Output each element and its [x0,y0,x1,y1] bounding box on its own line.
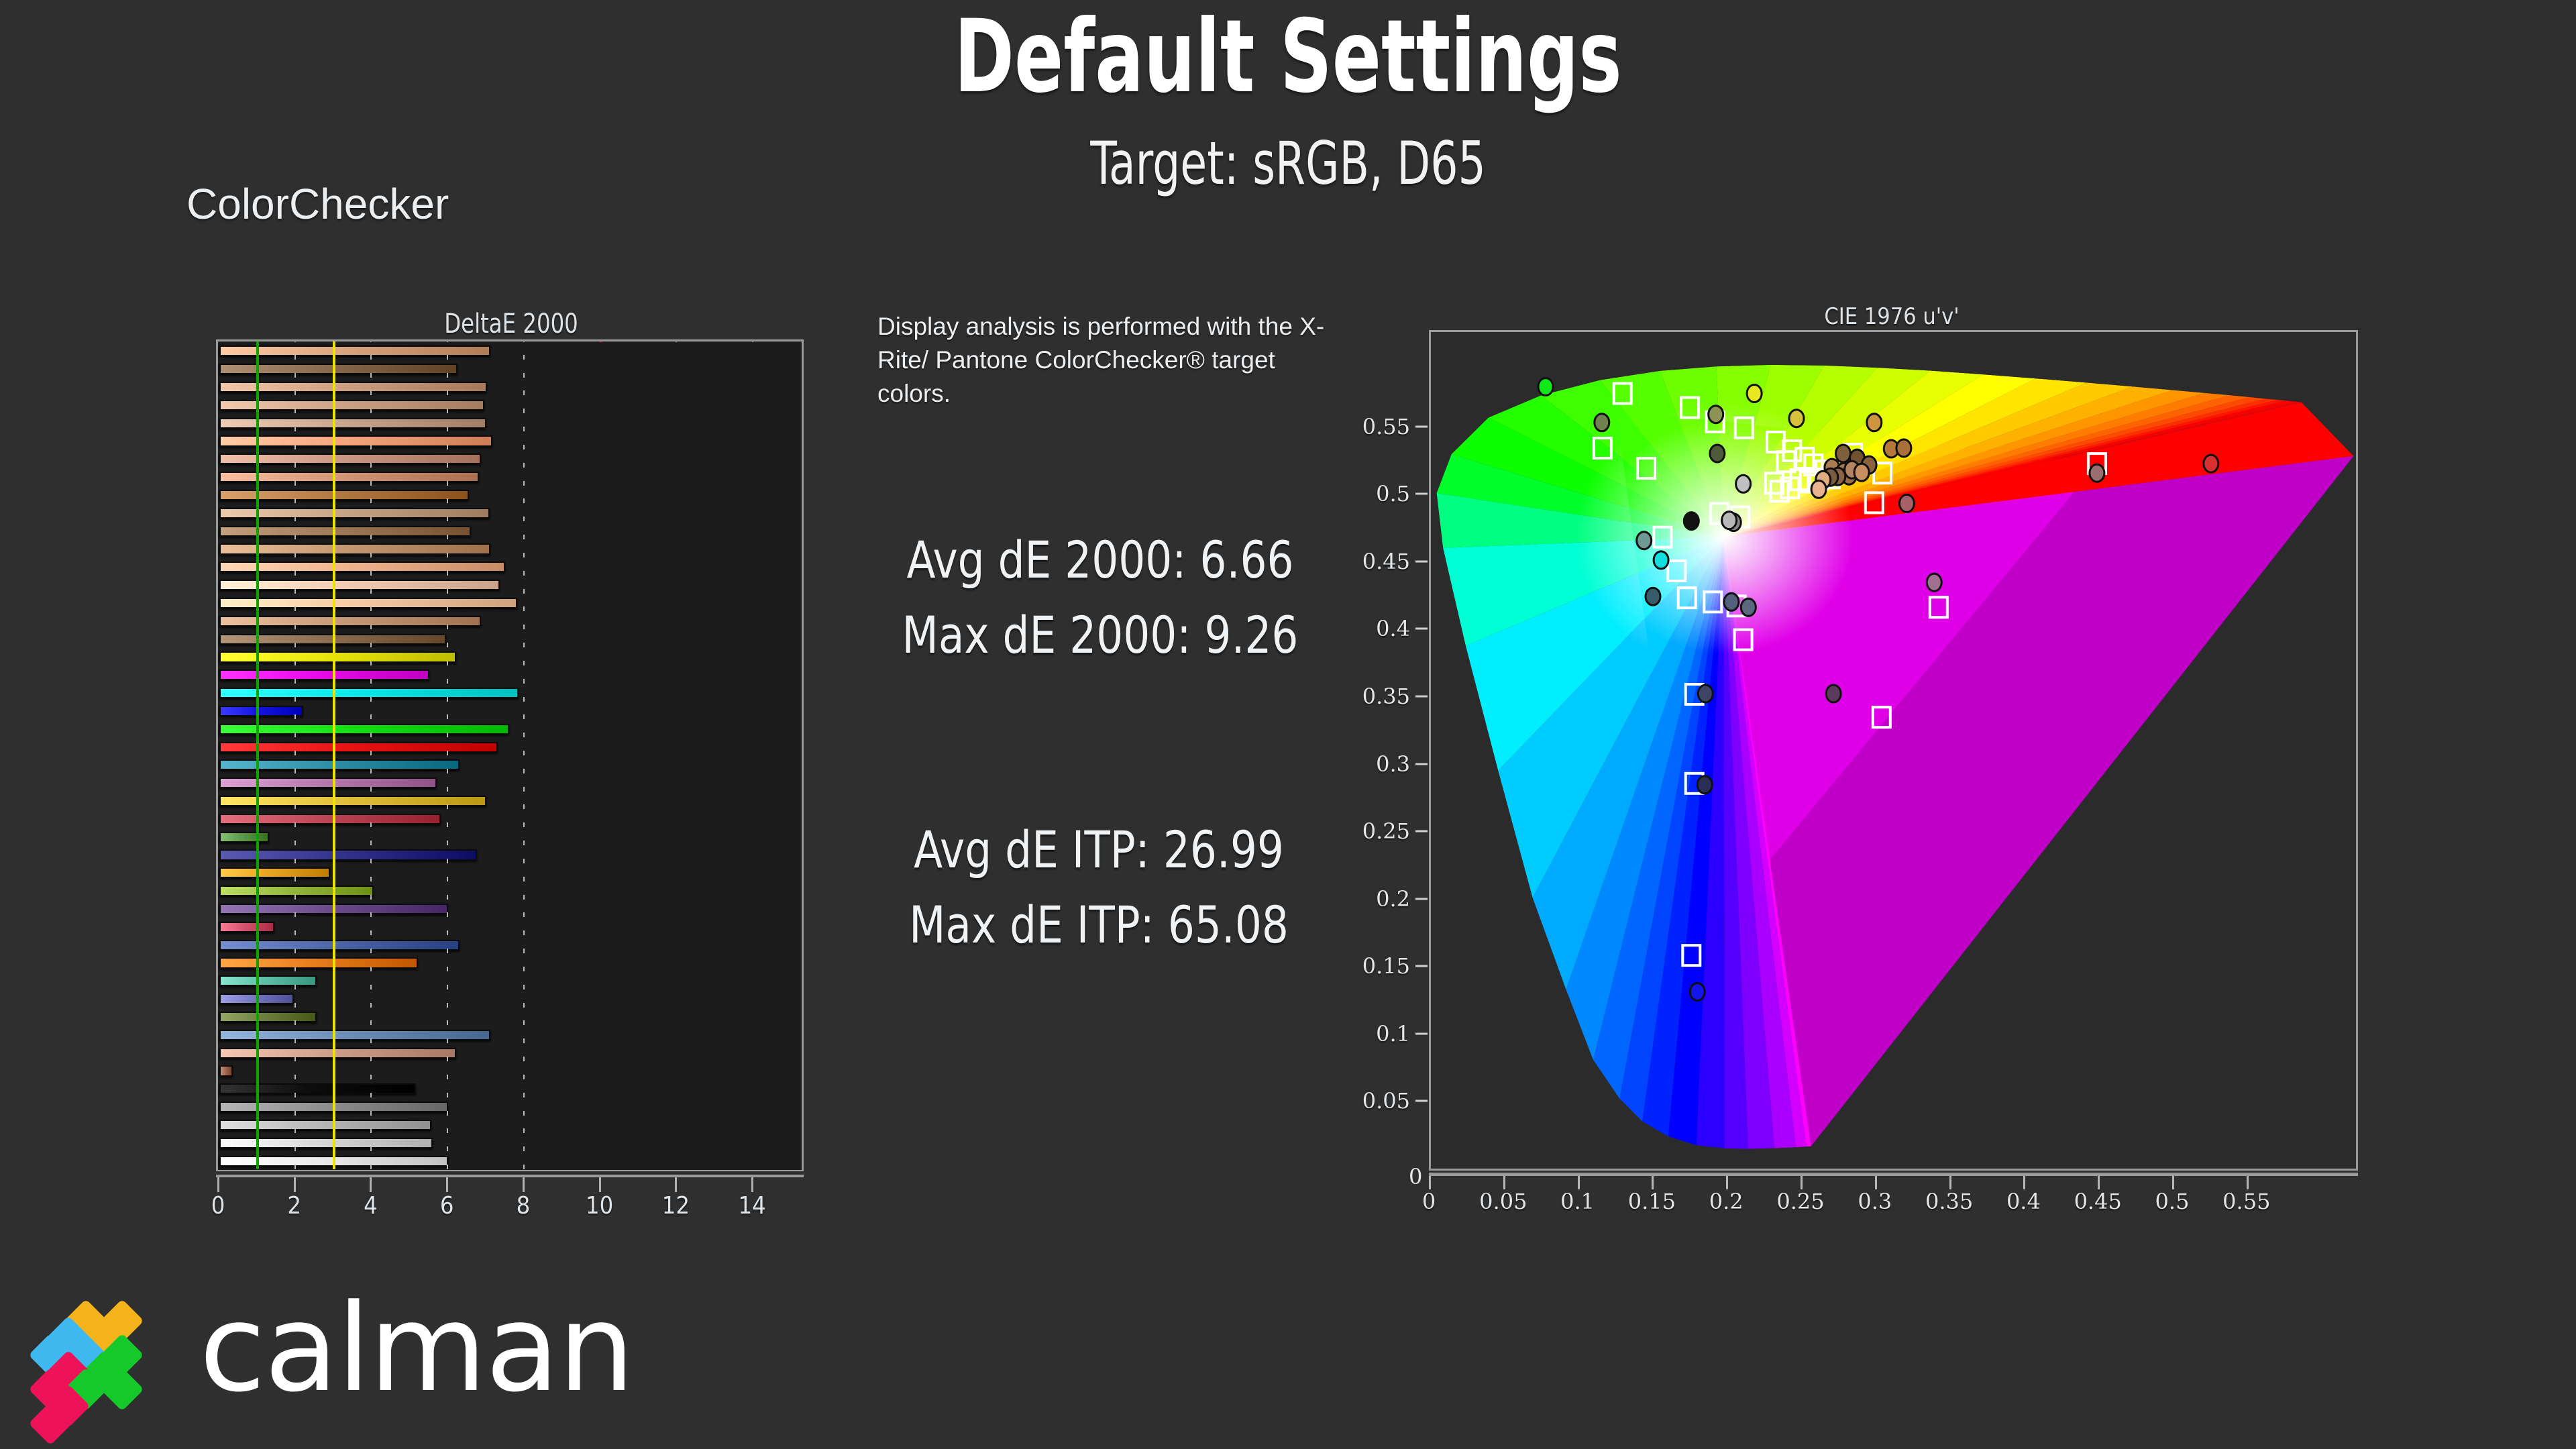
deltae-row [218,918,802,936]
deltae-axis-label: 4 [364,1192,378,1220]
deltae-minor-tick [523,643,525,647]
deltae-minor-tick [370,841,372,845]
cie-x-axis-tick [1652,1176,1654,1189]
cie-measured-marker [1684,513,1699,530]
cie-y-axis-tick [1415,425,1428,427]
deltae-plot-area [216,339,804,1171]
stat-max-deitp: Max dE ITP: 65.08 [852,895,1346,955]
deltae-minor-tick [294,912,296,917]
deltae-minor-tick [370,571,372,576]
deltae-minor-tick [294,751,296,755]
deltae-axis-label: 10 [586,1192,613,1220]
deltae-minor-tick [447,606,448,611]
deltae-minor-tick [294,877,296,881]
deltae-minor-tick [294,967,296,971]
deltae-minor-tick [523,481,525,486]
deltae-minor-tick [370,355,372,360]
deltae-minor-tick [523,463,525,468]
deltae-minor-tick [294,625,296,629]
deltae-minor-tick [523,1075,525,1079]
deltae-axis-tick [294,1177,296,1192]
cie-x-axis-label: 0 [1422,1189,1436,1214]
deltae-minor-tick [523,697,525,702]
deltae-minor-tick [294,679,296,684]
cie-y-axis-label: 0.15 [1362,953,1410,979]
deltae-bar [219,1083,416,1094]
deltae-minor-tick [294,553,296,557]
cie-measured-marker [1854,464,1869,481]
deltae-minor-tick [447,841,448,845]
deltae-minor-tick [447,912,448,917]
deltae-bar [219,1120,431,1130]
cie-measured-marker [1654,551,1668,569]
deltae-minor-tick [447,463,448,468]
deltae-minor-tick [447,1057,448,1061]
deltae-minor-tick [447,733,448,737]
deltae-minor-tick [294,589,296,594]
deltae-axis-label: 2 [287,1192,301,1220]
deltae-minor-tick [294,930,296,935]
deltae-minor-tick [294,661,296,665]
cie-measured-marker [1698,685,1713,702]
deltae-minor-tick [370,822,372,827]
cie-y-axis-tick [1415,898,1428,900]
deltae-minor-tick [294,535,296,539]
deltae-bar [219,561,505,572]
deltae-minor-tick [523,606,525,611]
deltae-minor-tick [294,1075,296,1079]
deltae-minor-tick [294,733,296,737]
deltae-minor-tick [523,373,525,378]
deltae-minor-tick [447,1038,448,1043]
deltae-bar [219,957,418,968]
cie-measured-marker [2090,464,2104,482]
deltae-minor-tick [523,535,525,539]
cie-x-axis-label: 0.55 [2222,1189,2270,1214]
deltae-minor-tick [523,625,525,629]
deltae-minor-tick [370,643,372,647]
cie-measured-marker [1709,406,1723,423]
deltae-minor-tick [447,481,448,486]
deltae-minor-tick [447,517,448,521]
cie-measured-marker [2204,455,2218,472]
cie-y-axis: 0.050.10.150.20.250.30.350.40.450.50.55 [1355,330,1428,1171]
cie-measured-marker [1697,776,1712,794]
deltae-minor-tick [447,967,448,971]
deltae-bar-chart [216,339,806,1175]
deltae-minor-tick [523,1003,525,1008]
cie-x-axis-tick [1578,1176,1580,1189]
deltae-minor-tick [447,877,448,881]
deltae-minor-tick [294,985,296,989]
deltae-bar [219,832,269,843]
deltae-minor-tick [523,787,525,792]
cie-y-axis-tick [1415,1100,1428,1102]
deltae-minor-tick [370,751,372,755]
cie-y-axis-tick [1415,696,1428,698]
cie-x-axis-label: 0.15 [1628,1189,1676,1214]
deltae-minor-tick [294,787,296,792]
cie-y-axis-tick [1415,965,1428,967]
cie-measured-marker [1710,445,1725,462]
deltae-chart-title: DeltaE 2000 [246,309,777,339]
deltae-minor-tick [370,373,372,378]
deltae-minor-tick [523,1165,525,1169]
stat-max-de2000: Max dE 2000: 9.26 [853,605,1347,665]
cie-measured-marker [1896,439,1911,457]
deltae-minor-tick [370,967,372,971]
deltae-minor-tick [294,606,296,611]
cie-axis-line [1429,1173,2358,1176]
deltae-minor-tick [294,373,296,378]
cie-y-axis-label: 0.4 [1376,616,1410,641]
deltae-bar [219,364,458,374]
cie-x-axis-tick [2098,1176,2100,1189]
deltae-minor-tick [294,949,296,953]
deltae-bar [219,759,460,770]
deltae-minor-tick [294,895,296,900]
deltae-minor-tick [447,697,448,702]
deltae-minor-tick [447,1128,448,1133]
deltae-minor-tick [447,1165,448,1169]
deltae-minor-tick [294,804,296,809]
deltae-bar [219,345,490,356]
cie-x-axis-tick [1429,1176,1431,1189]
cie-x-axis-label: 0.45 [2074,1189,2122,1214]
cie-measured-marker [1927,574,1941,591]
cie-y-axis-label: 0.5 [1376,481,1410,506]
deltae-minor-tick [523,679,525,684]
cie-chart-title: CIE 1976 u'v' [1429,303,2355,330]
page-subtitle: Target: sRGB, D65 [232,134,2345,193]
cie-measured-marker [1741,598,1756,616]
deltae-minor-tick [294,1003,296,1008]
deltae-minor-tick [370,733,372,737]
deltae-minor-tick [523,589,525,594]
deltae-minor-tick [447,1020,448,1025]
deltae-minor-tick [370,661,372,665]
deltae-minor-tick [294,859,296,863]
deltae-minor-tick [370,606,372,611]
deltae-minor-tick [294,1038,296,1043]
deltae-minor-tick [370,1003,372,1008]
deltae-minor-tick [370,535,372,539]
deltae-minor-tick [294,463,296,468]
deltae-minor-tick [523,751,525,755]
cie-y-axis-tick [1415,830,1428,833]
cie-measured-marker [1867,414,1882,431]
deltae-minor-tick [294,1146,296,1151]
deltae-minor-tick [294,409,296,413]
deltae-bar [219,651,456,662]
calman-wordmark: calman [199,1285,633,1413]
cie-y-axis-label: 0.3 [1376,751,1410,777]
cie-x-axis-tick [1875,1176,1877,1189]
deltae-bar [219,742,498,753]
cie-measured-marker [1899,494,1914,512]
deltae-minor-tick [294,517,296,521]
deltae-bar [219,922,274,932]
deltae-minor-tick [294,355,296,360]
deltae-minor-tick [447,822,448,827]
cie-measured-marker [1811,480,1826,498]
deltae-minor-tick [370,985,372,989]
deltae-bar [219,400,484,411]
deltae-axis-line [216,1175,804,1177]
deltae-minor-tick [294,643,296,647]
cie-x-axis-label: 0.25 [1776,1189,1824,1214]
cie-measured-marker [1637,532,1652,549]
deltae-minor-tick [447,930,448,935]
colorchecker-section-label: ColorChecker [186,179,449,229]
cie-measured-marker [1538,378,1553,396]
deltae-row [218,828,802,846]
deltae-minor-tick [294,714,296,719]
deltae-minor-tick [370,1020,372,1025]
deltae-minor-tick [370,804,372,809]
deltae-minor-tick [523,498,525,503]
deltae-bar [219,1048,456,1059]
cie-x-axis-tick [1726,1176,1728,1189]
deltae-minor-tick [447,498,448,503]
deltae-bar [219,1030,490,1040]
deltae-minor-tick [447,949,448,953]
cie-measured-marker [1789,410,1804,427]
deltae-minor-tick [294,445,296,449]
deltae-minor-tick [370,714,372,719]
deltae-minor-tick [447,409,448,413]
cie-measured-marker [1722,512,1737,529]
deltae-minor-tick [370,553,372,557]
cie-measured-marker [1595,414,1609,431]
analysis-note: Display analysis is performed with the X… [877,310,1347,411]
deltae-axis-label: 8 [517,1192,531,1220]
deltae-bar [219,724,509,735]
deltae-minor-tick [447,661,448,665]
deltae-minor-tick [523,859,525,863]
cie-x-axis-tick [1801,1176,1803,1189]
cie-y-axis-label: 0.55 [1362,414,1410,439]
deltae-bar [219,508,490,519]
deltae-axis-label: 6 [440,1192,454,1220]
deltae-minor-tick [294,1128,296,1133]
deltae-threshold-line [333,341,335,1169]
cie-measured-marker [1724,593,1739,610]
deltae-row [218,990,802,1008]
deltae-minor-tick [370,949,372,953]
cie-measured-marker [1646,588,1660,605]
deltae-minor-tick [370,787,372,792]
deltae-minor-tick [294,390,296,395]
stat-avg-deitp: Avg dE ITP: 26.99 [852,820,1346,879]
deltae-row [218,702,802,720]
cie-x-axis-label: 0.5 [2155,1189,2190,1214]
deltae-minor-tick [523,912,525,917]
deltae-axis-tick [370,1177,372,1192]
deltae-minor-tick [447,895,448,900]
deltae-minor-tick [294,841,296,845]
deltae-minor-tick [523,661,525,665]
deltae-minor-tick [370,481,372,486]
cie-x-axis-label: 0.4 [2006,1189,2041,1214]
deltae-bar [219,1012,317,1022]
deltae-axis-tick [523,1177,525,1192]
deltae-minor-tick [523,1111,525,1116]
deltae-minor-tick [523,822,525,827]
deltae-axis-tick [675,1177,677,1192]
cie-y-axis-tick [1415,763,1428,765]
deltae-minor-tick [523,355,525,360]
deltae-minor-tick [447,787,448,792]
cie-x-axis-tick [2247,1176,2249,1189]
deltae-minor-tick [523,1093,525,1097]
deltae-minor-tick [370,1146,372,1151]
cie-y-axis-label: 0.35 [1362,684,1410,709]
deltae-minor-tick [523,733,525,737]
deltae-minor-tick [370,517,372,521]
cie-x-axis-tick [1503,1176,1505,1189]
deltae-minor-tick [370,390,372,395]
deltae-minor-tick [447,390,448,395]
deltae-axis-tick [446,1177,448,1192]
deltae-axis-tick [599,1177,601,1192]
cie-y-axis-tick [1415,493,1428,495]
deltae-bar [219,706,303,716]
deltae-minor-tick [294,498,296,503]
deltae-minor-tick [523,517,525,521]
cie-x-axis-tick [1949,1176,1951,1189]
cie-y-axis-label: 0.05 [1362,1088,1410,1114]
cie-y-axis-tick [1415,560,1428,562]
deltae-minor-tick [447,1093,448,1097]
cie-x-axis: 00.050.10.150.20.250.30.350.40.450.50.55 [1429,1173,2361,1220]
deltae-minor-tick [294,1020,296,1025]
stat-avg-de2000: Avg dE 2000: 6.66 [853,530,1347,590]
deltae-minor-tick [447,427,448,431]
cie-measured-marker [1736,475,1751,492]
deltae-minor-tick [523,427,525,431]
deltae-minor-tick [523,804,525,809]
deltae-minor-tick [370,1057,372,1061]
deltae-minor-tick [447,373,448,378]
deltae-minor-tick [370,1111,372,1116]
deltae-minor-tick [447,804,448,809]
deltae-minor-tick [370,1165,372,1169]
deltae-minor-tick [294,1165,296,1169]
deltae-minor-tick [523,445,525,449]
cie-x-axis-label: 0.05 [1479,1189,1527,1214]
deltae-minor-tick [370,877,372,881]
deltae-minor-tick [523,949,525,953]
deltae-minor-tick [523,1038,525,1043]
deltae-minor-tick [447,445,448,449]
cie-origin-label: 0 [1409,1164,1422,1189]
deltae-minor-tick [523,930,525,935]
deltae-minor-tick [447,679,448,684]
deltae-minor-tick [370,930,372,935]
deltae-minor-tick [523,714,525,719]
deltae-minor-tick [447,751,448,755]
deltae-minor-tick [370,589,372,594]
cie-x-axis-label: 0.3 [1858,1189,1892,1214]
deltae-minor-tick [447,985,448,989]
cie-measured-marker [1690,983,1705,1001]
deltae-minor-tick [447,571,448,576]
deltae-minor-tick [523,877,525,881]
deltae-minor-tick [523,895,525,900]
deltae-minor-tick [370,679,372,684]
deltae-bar [219,435,492,446]
deltae-axis-label: 12 [662,1192,690,1220]
deltae-minor-tick [447,1075,448,1079]
deltae-minor-tick [447,1003,448,1008]
deltae-minor-tick [370,409,372,413]
page-title: Default Settings [258,7,2318,107]
deltae-minor-tick [370,697,372,702]
deltae-minor-tick [294,769,296,773]
cie-x-axis-label: 0.1 [1560,1189,1595,1214]
deltae-minor-tick [294,822,296,827]
cie-plot-area [1429,330,2358,1171]
deltae-bar [219,777,437,788]
cie-x-axis-tick [2023,1176,2025,1189]
deltae-minor-tick [447,1111,448,1116]
cie-y-axis-tick [1415,1032,1428,1034]
deltae-minor-tick [523,985,525,989]
cie-y-axis-tick [1415,628,1428,630]
deltae-minor-tick [370,463,372,468]
deltae-minor-tick [523,841,525,845]
deltae-minor-tick [447,625,448,629]
deltae-axis-tick [751,1177,753,1192]
deltae-x-axis: 02468101214 [216,1175,806,1215]
deltae-bar [219,867,330,878]
deltae-minor-tick [523,1057,525,1061]
deltae-bar [219,580,500,590]
deltae-minor-tick [447,355,448,360]
deltae-minor-tick [370,1075,372,1079]
deltae-bar [219,940,460,951]
deltae-bar [219,1065,233,1076]
deltae-bar [219,885,374,896]
deltae-minor-tick [370,445,372,449]
deltae-row [218,1062,802,1080]
deltae-minor-tick [370,912,372,917]
deltae-minor-tick [523,1146,525,1151]
deltae-axis-label: 0 [211,1192,225,1220]
deltae-minor-tick [294,1111,296,1116]
deltae-minor-tick [294,697,296,702]
deltae-threshold-line [256,341,259,1169]
cie-y-axis-label: 0.2 [1376,886,1410,912]
deltae-minor-tick [447,714,448,719]
cie-measured-marker [1826,685,1841,702]
deltae-minor-tick [523,769,525,773]
cie-x-axis-tick [2172,1176,2174,1189]
calman-diamond-icon [42,1295,186,1422]
deltae-minor-tick [370,769,372,773]
deltae-minor-tick [523,967,525,971]
deltae-minor-tick [523,390,525,395]
deltae-minor-tick [370,625,372,629]
deltae-minor-tick [523,1020,525,1025]
deltae-minor-tick [294,1057,296,1061]
deltae-bar [219,814,441,824]
deltae-minor-tick [370,1038,372,1043]
deltae-minor-tick [447,1146,448,1151]
deltae-bar [219,598,517,608]
deltae-minor-tick [447,589,448,594]
